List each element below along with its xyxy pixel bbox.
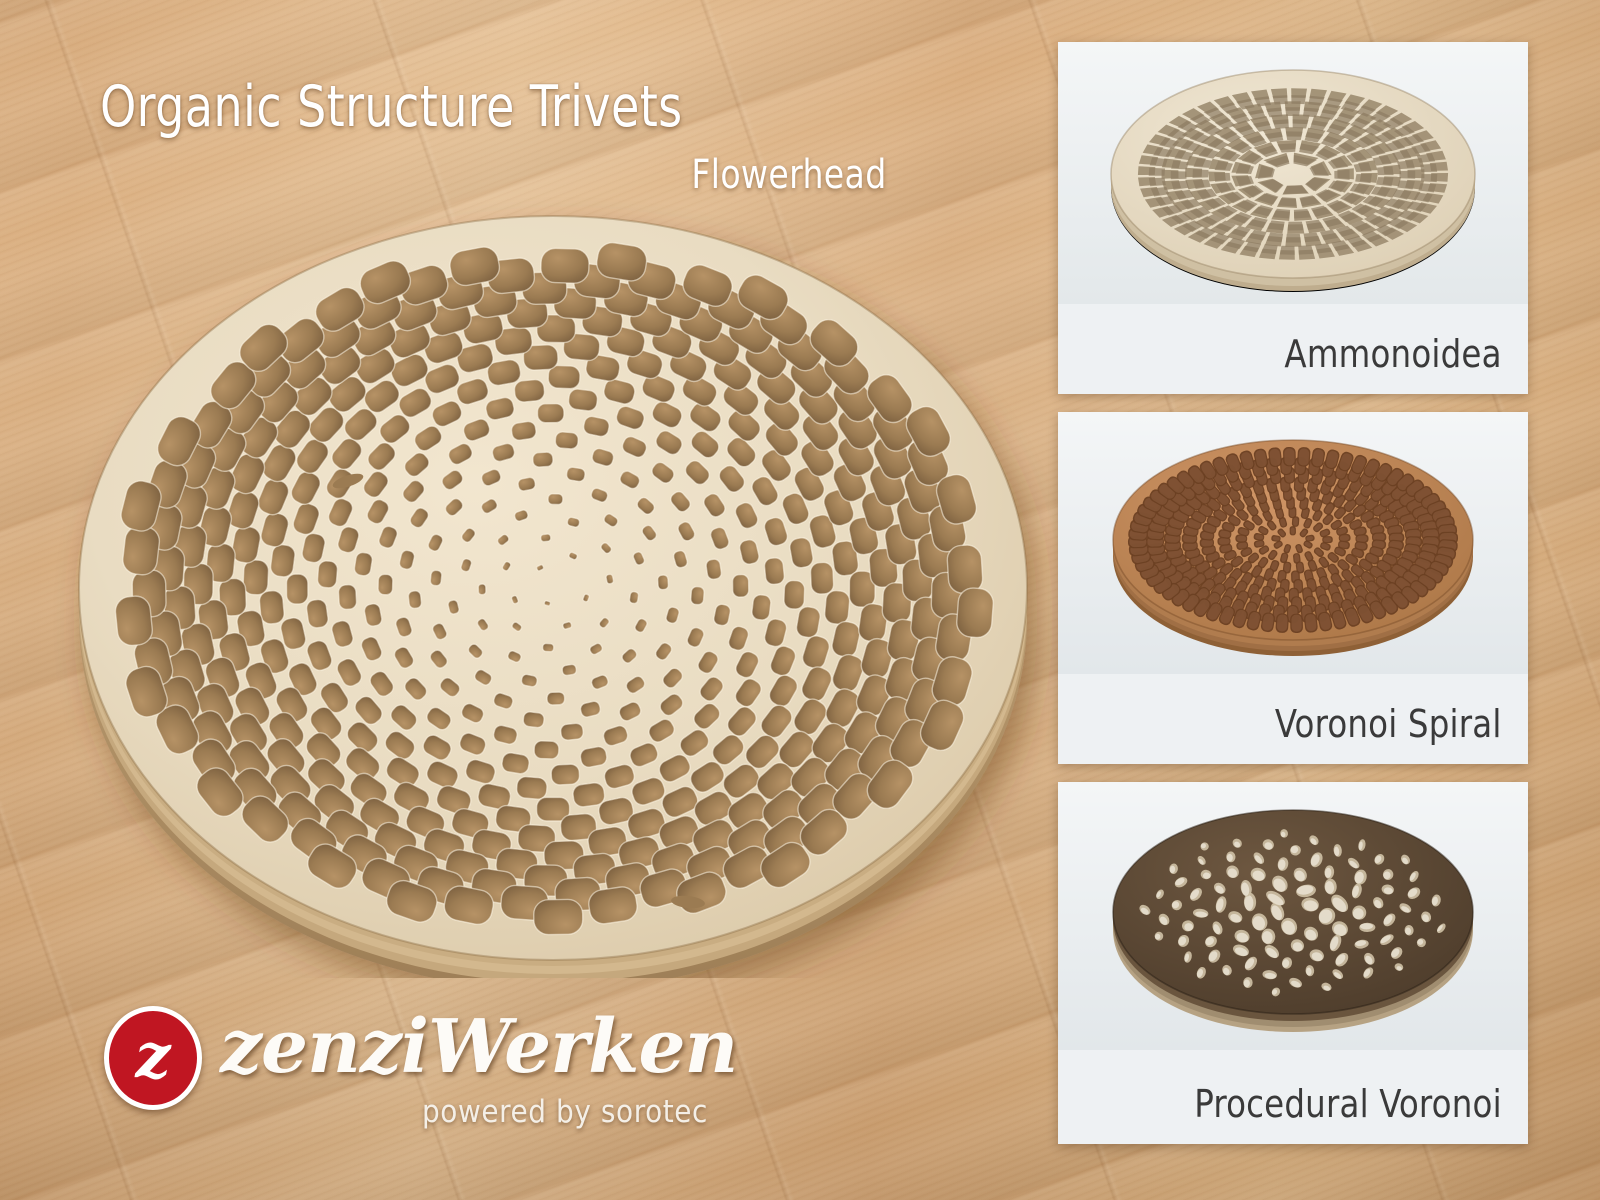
product-caption-ammonoidea: Ammonoidea xyxy=(1285,332,1502,376)
product-photo-voronoi-spiral xyxy=(1058,412,1528,674)
product-caption-procedural-voronoi: Procedural Voronoi xyxy=(1194,1082,1502,1126)
product-poster: Organic Structure Trivets Flowerhead xyxy=(0,0,1600,1200)
product-caption-voronoi-spiral: Voronoi Spiral xyxy=(1275,702,1502,746)
brand-logo[interactable]: z zenziWerken powered by sorotec xyxy=(104,1002,764,1152)
product-card-voronoi-spiral[interactable]: Voronoi Spiral xyxy=(1058,412,1528,764)
logo-badge-letter: z xyxy=(135,1025,170,1087)
hero-trivet-flowerhead xyxy=(48,188,1058,978)
product-photo-procedural-voronoi xyxy=(1058,782,1528,1050)
logo-tagline: powered by sorotec xyxy=(422,1094,708,1130)
logo-z-badge-icon: z xyxy=(104,1006,202,1110)
logo-wordmark: zenziWerken xyxy=(220,1010,737,1084)
product-card-ammonoidea[interactable]: Ammonoidea xyxy=(1058,42,1528,394)
product-photo-ammonoidea xyxy=(1058,42,1528,304)
product-card-procedural-voronoi[interactable]: Procedural Voronoi xyxy=(1058,782,1528,1144)
